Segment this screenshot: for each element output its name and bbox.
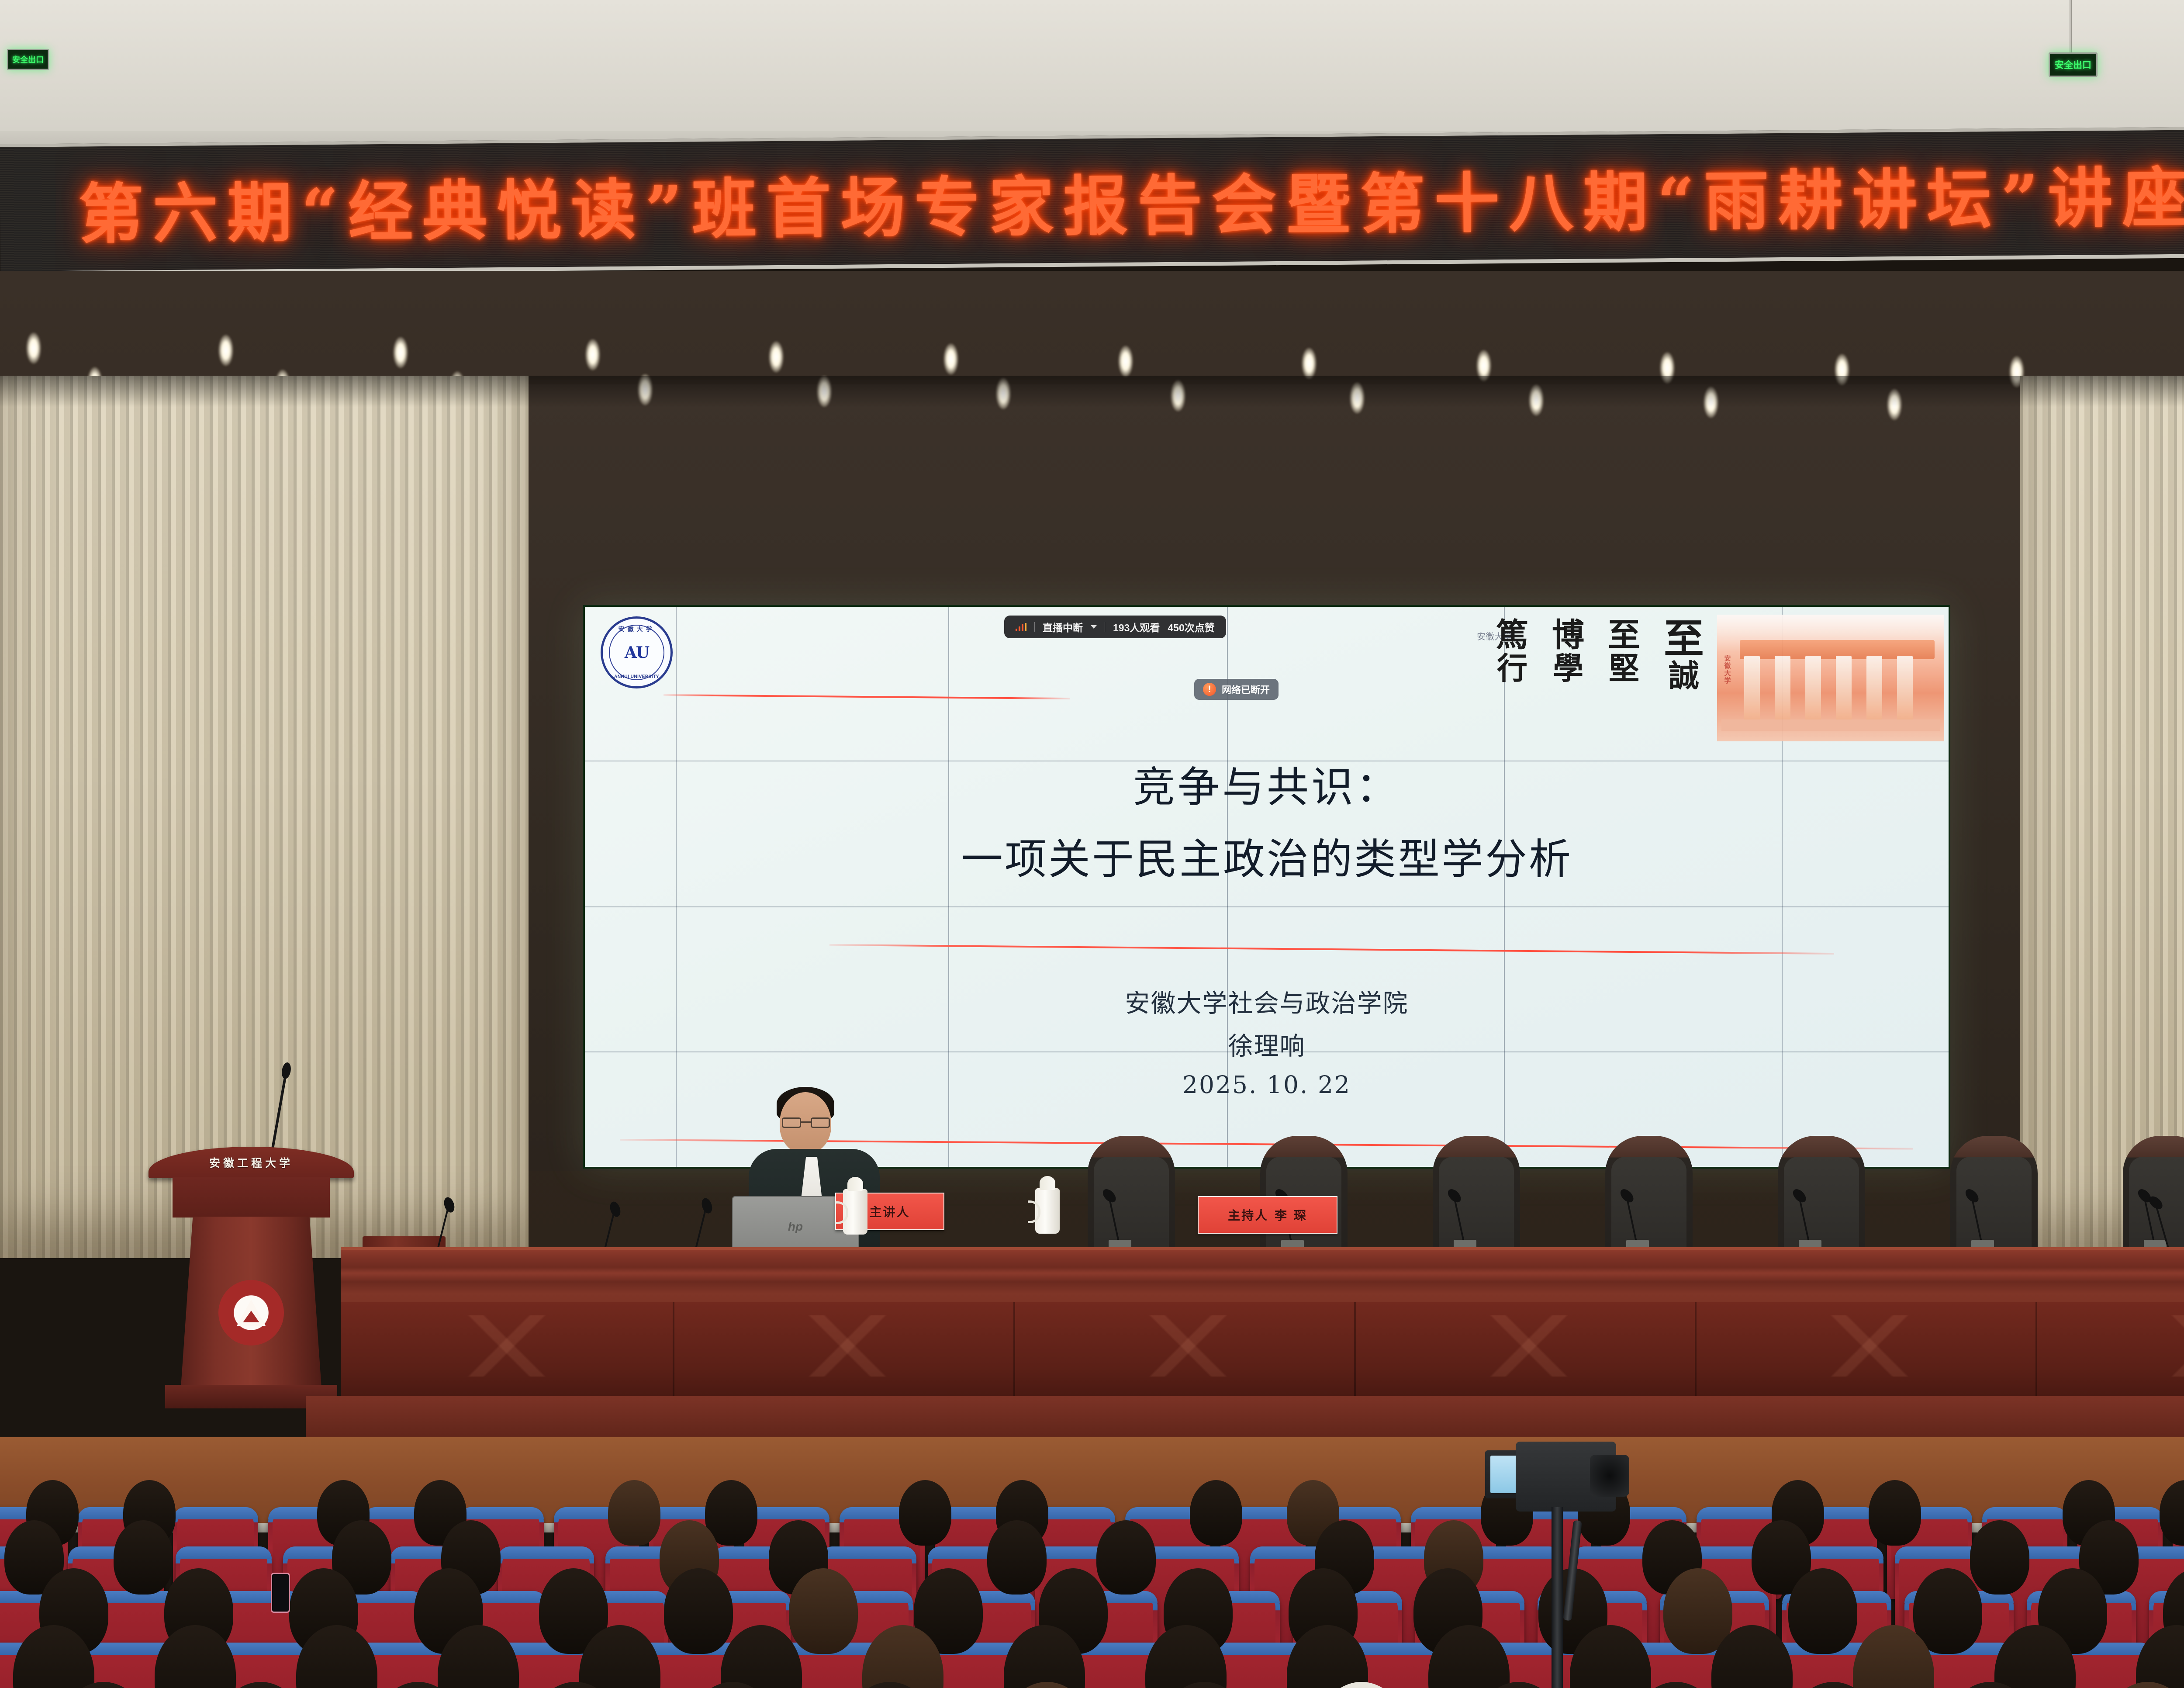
motto-char: 篤	[1496, 620, 1528, 650]
motto-char: 學	[1553, 652, 1583, 685]
audience-member-head	[114, 1520, 173, 1595]
placard-role: 主讲人	[869, 1203, 910, 1220]
podium-university-label: 安徽工程大学	[149, 1155, 354, 1170]
ceiling-spotlight	[585, 339, 600, 370]
ceiling-spotlight	[769, 341, 784, 373]
ceiling-spotlight	[1476, 350, 1491, 381]
logo-cn-text: 安徽大学	[603, 625, 670, 633]
audience-member-head	[608, 1480, 660, 1546]
university-motto: 篤 行 博 學 至 堅 至 誠	[1496, 620, 1704, 692]
livestream-likes: 450次点赞	[1168, 619, 1214, 634]
audience-member-head	[1096, 1520, 1156, 1595]
exit-sign-right: 安全出口	[2049, 52, 2098, 77]
podium-crest-logo	[218, 1280, 284, 1346]
exit-sign-label-right: 安全出口	[2055, 58, 2091, 71]
network-warning-label: 网络已断开	[1222, 682, 1270, 696]
audience-member-head	[987, 1520, 1047, 1595]
anhui-university-logo: 安徽大学 AU ANHUI UNIVERSITY	[601, 616, 673, 688]
projection-screen: 安徽大学 AU ANHUI UNIVERSITY 直播中断 193人观看 450…	[585, 607, 1949, 1167]
camera-tripod	[1552, 1507, 1563, 1688]
exit-sign-rod	[2070, 0, 2072, 53]
exclamation-icon: !	[1203, 683, 1216, 696]
logo-en-text: ANHUI UNIVERSITY	[605, 674, 668, 679]
ceiling-spotlight	[1835, 354, 1849, 385]
audience-member-head	[789, 1568, 858, 1654]
ceiling-spotlight	[1660, 352, 1675, 384]
ceiling-spotlight	[1171, 380, 1185, 412]
livestream-status-label: 直播中断	[1043, 619, 1083, 634]
motto-char: 博	[1552, 620, 1584, 650]
signal-bars-icon	[1016, 623, 1026, 631]
auditorium-scene: 安全出口 安全出口 第六期“经典悦读”班首场专家报告会暨第十八期“雨耕讲坛”讲座	[0, 0, 2184, 1688]
campus-building-image: 安徽大学	[1717, 615, 1944, 741]
ceiling-spotlight	[943, 343, 958, 375]
network-disconnected-badge: ! 网络已断开	[1194, 679, 1279, 700]
motto-column-3: 至 堅	[1608, 620, 1640, 685]
placard-name: 李 琛	[1275, 1206, 1307, 1224]
ceiling-spotlight	[26, 332, 41, 364]
teacup	[1035, 1188, 1060, 1234]
podium-neck	[173, 1177, 330, 1218]
ceiling-spotlight	[1118, 346, 1133, 377]
campus-seal-text: 安徽大学	[1723, 655, 1731, 685]
ceiling-spotlight	[1302, 348, 1317, 379]
ceiling-spotlight	[817, 376, 832, 407]
curtain-right	[2020, 376, 2184, 1258]
ceiling-spotlight	[1704, 387, 1718, 418]
ceiling-spotlight	[1887, 389, 1902, 420]
motto-column-2: 博 學	[1552, 620, 1584, 685]
audience-member-head	[1190, 1480, 1242, 1546]
ceiling-spotlight	[996, 378, 1011, 409]
audience-phone	[271, 1573, 290, 1613]
slide-presenter-name: 徐理响	[585, 1026, 1949, 1062]
livestream-status-bar[interactable]: 直播中断 193人观看 450次点赞	[1004, 616, 1226, 638]
slide-title-line-1: 竞争与共识：	[585, 753, 1949, 814]
placard-role: 主持人	[1228, 1206, 1268, 1224]
motto-column-1: 篤 行	[1496, 620, 1528, 685]
motto-column-4: 至 誠	[1664, 620, 1704, 692]
slide-title-line-2: 一项关于民主政治的类型学分析	[585, 825, 1949, 886]
ceiling	[0, 0, 2184, 144]
ceiling-spotlight	[218, 335, 233, 366]
audience-member-head	[899, 1480, 951, 1546]
exit-sign-label: 安全出口	[12, 54, 44, 65]
motto-char: 至	[1664, 620, 1704, 658]
placard-host: 主持人 李 琛	[1198, 1196, 1337, 1234]
motto-char: 行	[1497, 652, 1527, 685]
exit-sign-left: 安全出口	[7, 49, 49, 70]
motto-char: 誠	[1669, 660, 1699, 692]
chevron-down-icon[interactable]	[1091, 625, 1097, 629]
ceiling-spotlight	[1350, 382, 1365, 414]
motto-char: 堅	[1609, 652, 1639, 685]
audience-area	[0, 1437, 2184, 1688]
ceiling-spotlight	[393, 337, 408, 368]
livestream-viewers: 193人观看	[1113, 619, 1160, 634]
audience-member-head	[1788, 1568, 1857, 1654]
conference-table	[341, 1247, 2184, 1396]
motto-char: 至	[1608, 620, 1640, 650]
audience-member-head	[1869, 1480, 1921, 1546]
led-banner-text: 第六期“经典悦读”班首场专家报告会暨第十八期“雨耕讲坛”讲座	[78, 145, 2184, 256]
audience-member-head	[664, 1568, 733, 1654]
audience-member-head	[1970, 1520, 2029, 1595]
teacup	[843, 1189, 867, 1235]
speaker-glasses	[782, 1117, 830, 1128]
ceiling-spotlight	[1529, 384, 1544, 416]
camera-lens-icon	[1590, 1455, 1629, 1497]
slide-affiliation: 安徽大学社会与政治学院	[585, 983, 1949, 1019]
curtain-left	[0, 376, 529, 1258]
ceiling-spotlight	[638, 374, 653, 405]
led-banner: 第六期“经典悦读”班首场专家报告会暨第十八期“雨耕讲坛”讲座	[0, 124, 2184, 275]
